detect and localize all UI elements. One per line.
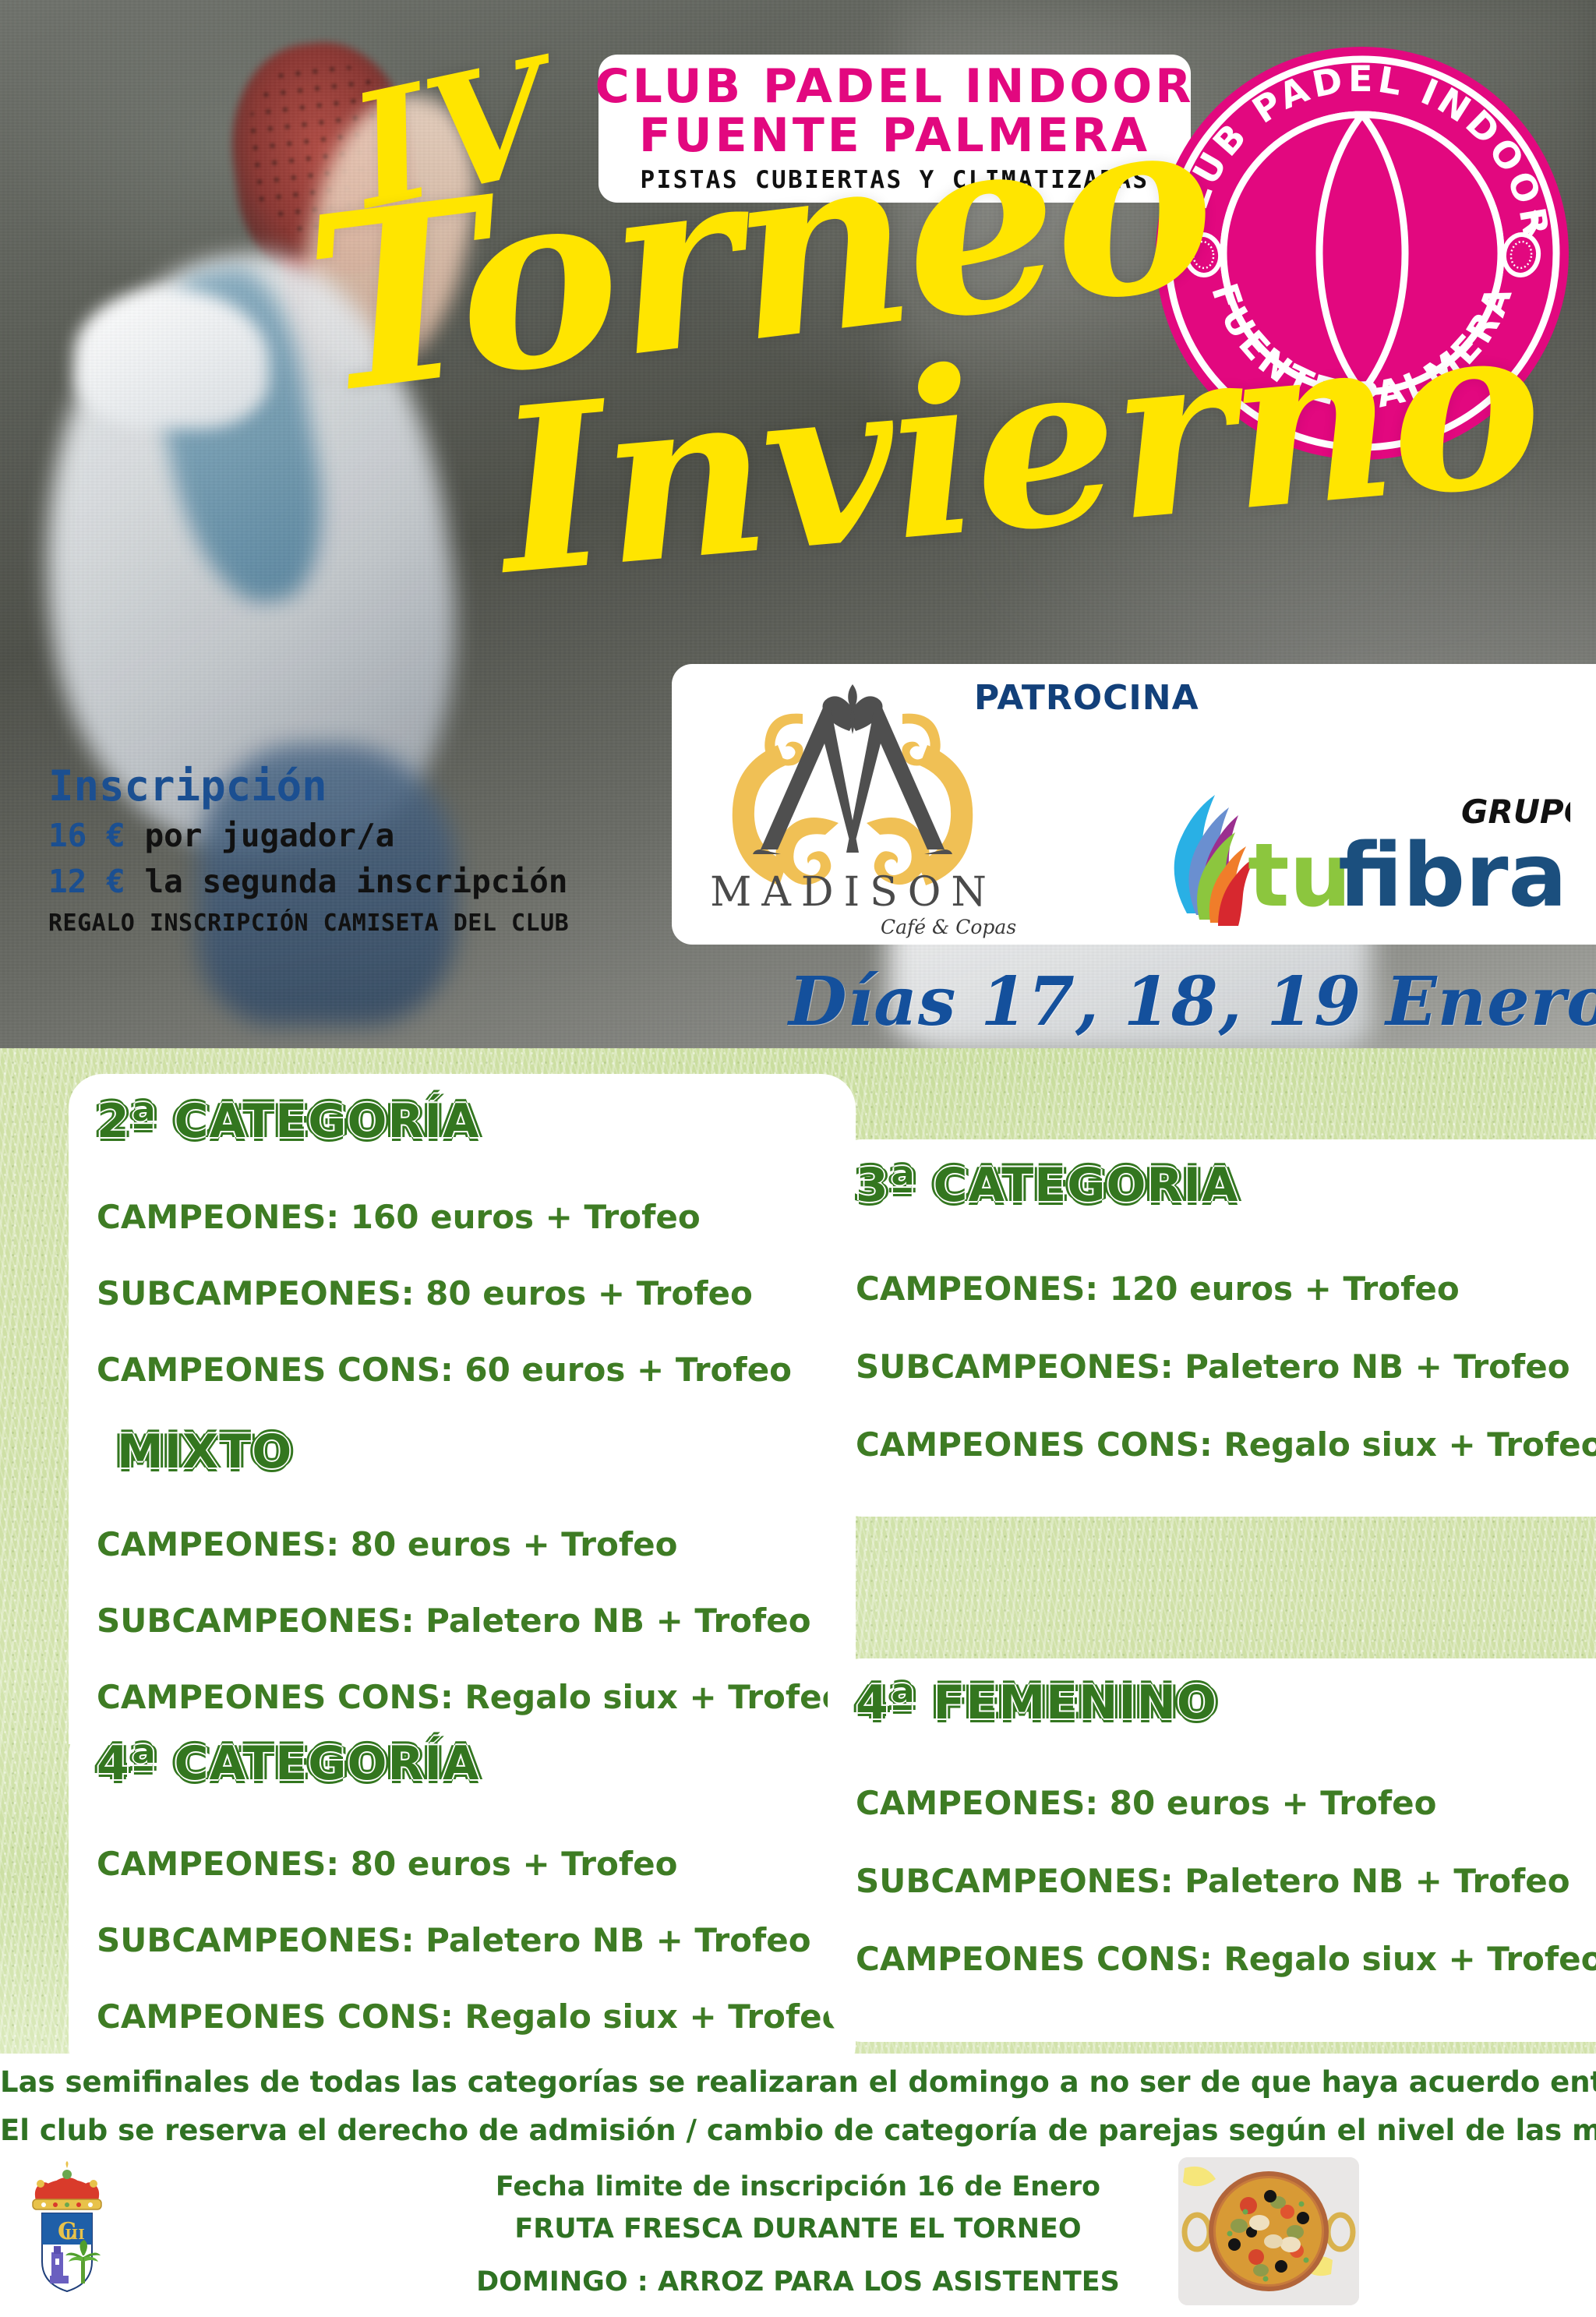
category-title: 4ª FEMENINO [856,1676,1217,1730]
inscription-price-2-label: la segunda inscripción [144,863,567,900]
category-prize-line: CAMPEONES: 120 euros + Trofeo [856,1270,1460,1307]
category-card-4a: 4ª CATEGORÍA CAMPEONES: 80 euros + Trofe… [69,1721,856,2079]
inscription-price-1-label: por jugador/a [144,817,394,854]
category-card-mixto: MIXTO CAMPEONES: 80 euros + Trofeo SUBCA… [69,1408,856,1744]
fuente-palmera-coat-of-arms-icon: C III [19,2160,116,2297]
category-prize-line: CAMPEONES: 80 euros + Trofeo [97,1526,677,1563]
footer-note-semifinals: Las semifinales de todas las categorías … [0,2065,1596,2099]
category-prize-line: CAMPEONES: 80 euros + Trofeo [856,1785,1436,1821]
category-title: 4ª CATEGORÍA [97,1736,479,1791]
category-prize-line: CAMPEONES CONS: Regalo siux + Trofeo [97,1998,845,2035]
club-subtitle: PISTAS CUBIERTAS Y CLIMATIZADAS [641,166,1149,194]
category-prize-line: CAMPEONES CONS: 60 euros + Trofeo [97,1351,792,1388]
category-prize-line: SUBCAMPEONES: Paletero NB + Trofeo [856,1348,1570,1385]
category-prize-line: CAMPEONES: 160 euros + Trofeo [97,1199,701,1235]
category-prize-line: CAMPEONES CONS: Regalo siux + Trofeo [856,1941,1596,1977]
inscription-price-1: 16 € [48,817,125,854]
club-name-panel: CLUB PADEL INDOOR FUENTE PALMERA PISTAS … [598,55,1191,203]
category-prize-line: CAMPEONES CONS: Regalo siux + Trofeo [97,1679,845,1715]
category-prize-line: SUBCAMPEONES: Paletero NB + Trofeo [97,1922,811,1959]
club-name-line2: FUENTE PALMERA [639,112,1150,160]
category-title: 3ª CATEGORIA [856,1158,1238,1213]
club-name-line1: CLUB PADEL INDOOR [595,63,1195,111]
tournament-dates: Días 17, 18, 19 Enero [789,962,1596,1041]
tufibra-grupo-text: GRUPO [1461,793,1570,831]
tufibra-tu-text: tu [1248,825,1351,927]
category-title: MIXTO [117,1425,292,1479]
tufibra-flame-icon [1174,795,1255,926]
category-card-4a-femenino: 4ª FEMENINO CAMPEONES: 80 euros + Trofeo… [828,1658,1596,2042]
shield-monogram-numeral: III [65,2227,84,2243]
shield-icon: C III [42,2213,101,2291]
madison-tagline: Café & Copas [881,916,1016,938]
inscription-gift-note: REGALO INSCRIPCIÓN CAMISETA DEL CLUB [48,909,594,937]
category-prize-line: SUBCAMPEONES: Paletero NB + Trofeo [856,1863,1570,1899]
inscription-block: Inscripción 16 € por jugador/a 12 € la s… [48,760,594,937]
tufibra-logo: tu fibra GRUPO [1134,789,1570,937]
tournament-poster: CLUB PADEL INDOOR FUENTE PALMERA PISTAS … [0,0,1596,2317]
category-card-3a: 3ª CATEGORIA CAMPEONES: 120 euros + Trof… [828,1139,1596,1517]
crown-icon [33,2161,101,2209]
category-title: 2ª CATEGORÍA [97,1094,479,1149]
tufibra-fibra-text: fibra [1338,825,1567,927]
category-card-2a: 2ª CATEGORÍA CAMPEONES: 160 euros + Trof… [69,1074,856,1439]
inscription-price-row-2: 12 € la segunda inscripción [48,859,594,905]
madison-wordmark: MADISON [690,869,1017,916]
inscription-heading: Inscripción [48,760,594,813]
inscription-price-row-1: 16 € por jugador/a [48,813,594,859]
paella-photo [1178,2157,1359,2305]
category-prize-line: SUBCAMPEONES: Paletero NB + Trofeo [97,1602,811,1639]
club-badge-logo: CLUB PADEL INDOOR FUENTE PALMERA [1152,43,1573,464]
footer-note-admission: El club se reserva el derecho de admisió… [0,2114,1596,2147]
inscription-price-2: 12 € [48,863,125,900]
category-prize-line: CAMPEONES CONS: Regalo siux + Trofeo [856,1426,1596,1463]
category-prize-line: SUBCAMPEONES: 80 euros + Trofeo [97,1275,753,1312]
category-prize-line: CAMPEONES: 80 euros + Trofeo [97,1845,677,1882]
